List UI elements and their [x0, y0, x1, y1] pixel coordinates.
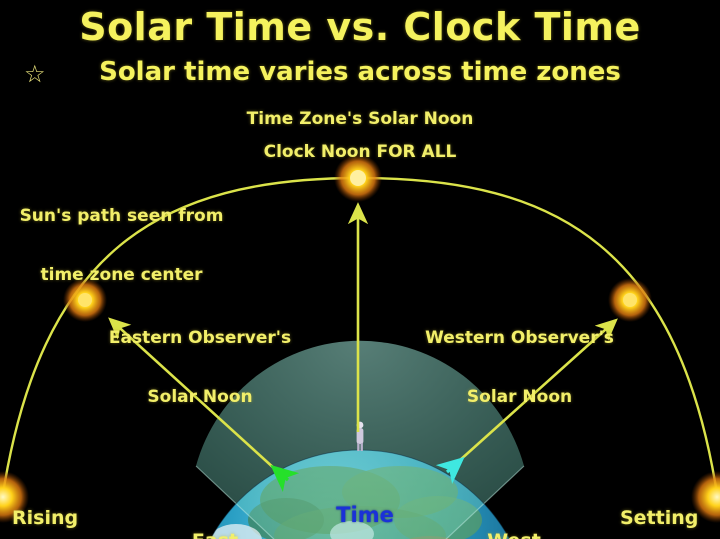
label-sun-path-line2: time zone center [14, 266, 229, 286]
label-timezone-solar-noon: Time Zone's Solar Noon [0, 110, 720, 130]
label-clock-noon-for-all: Clock Noon FOR ALL [0, 143, 720, 163]
label-setting: Setting [620, 508, 716, 530]
label-eastern-observer-line1: Eastern Observer's [100, 329, 300, 349]
label-west-side: West side [477, 487, 551, 539]
label-western-observer-line2: Solar Noon [412, 388, 627, 408]
page-title: Solar Time vs. Clock Time [0, 6, 720, 50]
label-western-observer-line1: Western Observer's [412, 329, 627, 349]
label-west-side-line1: West [477, 531, 551, 539]
label-east-side-line1: East [178, 531, 252, 539]
label-eastern-observer-line2: Solar Noon [100, 388, 300, 408]
label-sun-path-line1: Sun's path seen from [14, 207, 229, 227]
label-rising: Rising [12, 508, 122, 530]
subtitle: Solar time varies across time zones [0, 58, 720, 88]
slide-canvas: Solar Time vs. Clock Time ☆ Solar time v… [0, 0, 720, 539]
label-time-zone: Time Zone [325, 455, 405, 539]
label-east-side: East side [178, 487, 252, 539]
label-eastern-observer-solar-noon: Eastern Observer's Solar Noon [100, 290, 300, 446]
label-western-observer-solar-noon: Western Observer's Solar Noon [412, 290, 627, 446]
label-time-zone-line1: Time [325, 503, 405, 527]
